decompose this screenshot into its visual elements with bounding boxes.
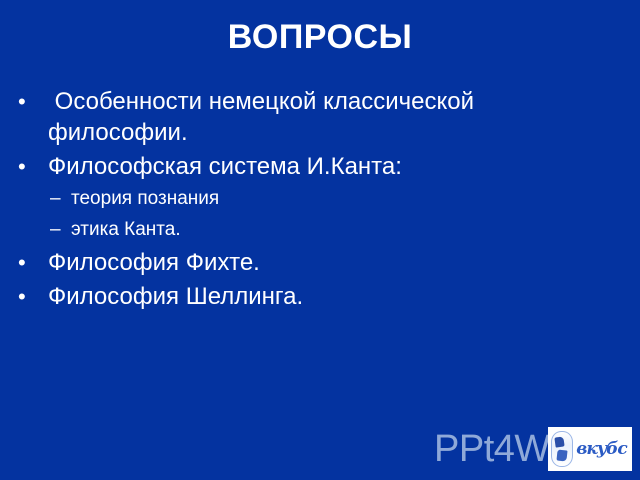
organization-logo: вкубс — [548, 427, 632, 471]
list-item: • Философская система И.Канта: — [18, 151, 578, 182]
dash-icon: – — [50, 216, 71, 243]
dash-icon: – — [50, 185, 71, 212]
list-item: • Философия Фихте. — [18, 247, 578, 278]
sub-list-item: – этика Канта. — [50, 216, 578, 243]
page-title: ВОПРОСЫ — [0, 17, 640, 57]
bullet-point-icon: • — [18, 247, 48, 278]
sub-list-item-label: этика Канта. — [71, 216, 578, 243]
bullet-point-icon: • — [18, 86, 48, 117]
sub-list-item: – теория познания — [50, 185, 578, 212]
presentation-slide: ВОПРОСЫ • Особенности немецкой классичес… — [0, 0, 640, 480]
list-item: • Особенности немецкой классической фило… — [18, 86, 578, 148]
list-item-label: Особенности немецкой классической филосо… — [48, 86, 553, 148]
bullet-point-icon: • — [18, 151, 48, 182]
list-item-label: Философская система И.Канта: — [48, 151, 553, 182]
watermark-text: PPt4W — [434, 428, 550, 470]
list-item-label: Философия Шеллинга. — [48, 281, 553, 312]
sub-list-item-label: теория познания — [71, 185, 578, 212]
list-item-label: Философия Фихте. — [48, 247, 553, 278]
bullet-point-icon: • — [18, 281, 48, 312]
bullet-list: • Особенности немецкой классической фило… — [18, 86, 578, 315]
capsule-emblem-icon — [551, 431, 573, 467]
list-item: • Философия Шеллинга. — [18, 281, 578, 312]
logo-wordmark: вкубс — [573, 439, 632, 459]
